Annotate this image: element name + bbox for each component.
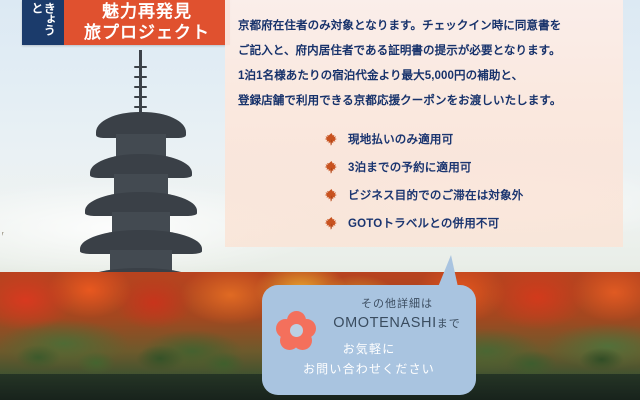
spire-ring <box>134 66 147 68</box>
bubble-upper-text: その他詳細は OMOTENASHIまで <box>330 295 464 331</box>
maple-leaf-icon <box>324 132 339 147</box>
list-item-label: ビジネス目的でのご滞在は対象外 <box>348 187 524 203</box>
logo-kyoto-badge: きょうと <box>22 0 64 45</box>
brand-suffix: まで <box>437 318 461 330</box>
contact-speech-bubble: その他詳細は OMOTENASHIまで お気軽に お問い合わせください <box>262 285 476 395</box>
speech-bubble-tail <box>438 255 458 287</box>
maple-leaf-icon <box>324 160 339 175</box>
logo-title-block: 魅力再発見 旅プロジェクト <box>64 0 230 45</box>
maple-leaf-icon <box>324 188 339 203</box>
logo-title-line-1: 魅力再発見 <box>102 2 192 22</box>
list-item: GOTOトラベルとの併用不可 <box>324 209 610 237</box>
panel-paragraph: 登録店舗で利用できる京都応援クーポンをお渡しいたします。 <box>238 89 610 114</box>
list-item-label: 現地払いのみ適用可 <box>348 131 453 147</box>
panel-paragraph: 1泊1名様あたりの宿泊代金より最大5,000円の補助と、 <box>238 64 610 89</box>
condition-list: 現地払いのみ適用可 3泊までの予約に適用可 ビジ <box>238 125 610 237</box>
spire-ring <box>134 96 147 98</box>
list-item-label: 3泊までの予約に適用可 <box>348 159 472 175</box>
spire-ring <box>134 76 147 78</box>
panel-paragraph: ご記入と、府内居住者である証明書の提示が必要となります。 <box>238 39 610 64</box>
bubble-line-4: お問い合わせください <box>274 359 464 379</box>
brand-name: OMOTENASHI <box>333 315 436 331</box>
info-panel: 京都府在住者のみ対象となります。チェックイン時に同意書を ご記入と、府内居住者で… <box>225 0 623 247</box>
bubble-brand-line: OMOTENASHIまで <box>330 315 464 331</box>
list-item: 現地払いのみ適用可 <box>324 125 610 153</box>
project-logo: きょうと 魅力再発見 旅プロジェクト <box>22 0 230 45</box>
spire-ring <box>134 106 147 108</box>
panel-paragraph: 京都府在住者のみ対象となります。チェックイン時に同意書を <box>238 14 610 39</box>
list-item: ビジネス目的でのご滞在は対象外 <box>324 181 610 209</box>
spire-ring <box>134 86 147 88</box>
bubble-line-1: その他詳細は <box>330 295 464 311</box>
maple-leaf-icon <box>324 216 339 231</box>
list-item: 3泊までの予約に適用可 <box>324 153 610 181</box>
logo-title-line-2: 旅プロジェクト <box>84 23 210 43</box>
flower-center <box>290 324 303 337</box>
list-item-label: GOTOトラベルとの併用不可 <box>348 215 499 231</box>
poster-root: きょうと 魅力再発見 旅プロジェクト 京都府在住者のみ対象となります。チェックイ… <box>0 0 640 400</box>
plum-blossom-icon <box>276 311 316 351</box>
